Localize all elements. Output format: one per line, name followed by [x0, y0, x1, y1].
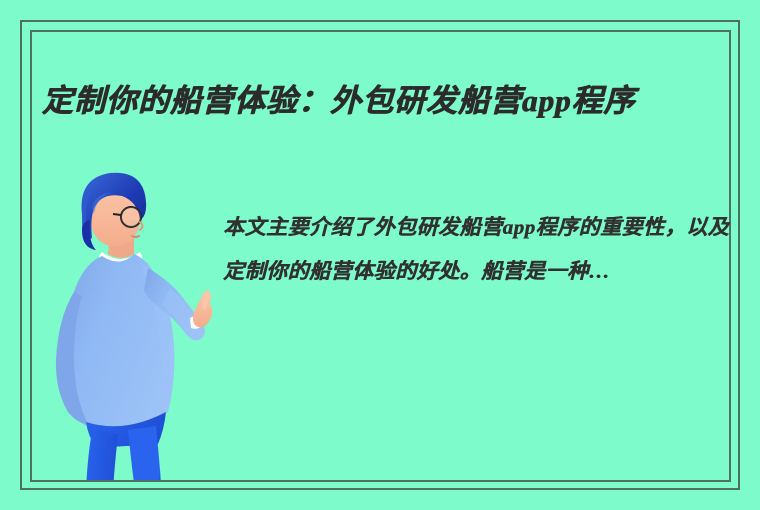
article-summary: 本文主要介绍了外包研发船营app程序的重要性，以及定制你的船营体验的好处。船营是…	[223, 205, 731, 293]
illustration-person-pointing	[52, 168, 212, 480]
page-title: 定制你的船营体验：外包研发船营app程序	[42, 77, 742, 125]
poster-card: 定制你的船营体验：外包研发船营app程序	[0, 0, 760, 510]
